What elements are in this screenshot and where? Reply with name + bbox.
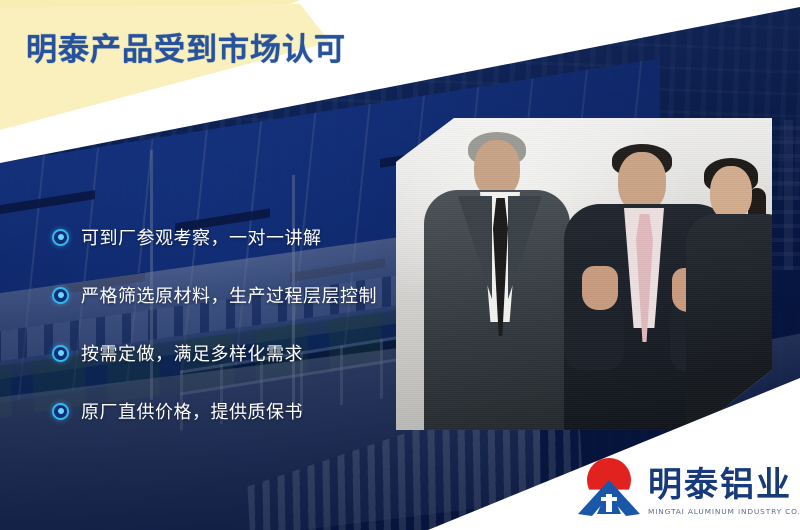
company-name-en: MINGTAI ALUMINUM INDUSTRY CO., LTD <box>648 507 800 516</box>
p3-head <box>710 166 752 220</box>
target-circle-icon <box>52 345 69 362</box>
target-circle-icon <box>52 229 69 246</box>
list-item: 严格筛选原材料，生产过程层层控制 <box>52 266 412 324</box>
feature-text: 按需定做，满足多样化需求 <box>81 340 303 366</box>
feature-text: 原厂直供价格，提供质保书 <box>81 398 303 424</box>
white-cross-detail <box>606 494 612 512</box>
company-logo: 明泰铝业 MINGTAI ALUMINUM INDUSTRY CO., LTD <box>578 458 800 516</box>
mingtai-sun-mountain-icon <box>578 458 640 516</box>
feature-text: 严格筛选原材料，生产过程层层控制 <box>81 282 377 308</box>
list-item: 原厂直供价格，提供质保书 <box>52 382 412 440</box>
list-item: 可到厂参观考察，一对一讲解 <box>52 208 412 266</box>
feature-list: 可到厂参观考察，一对一讲解 严格筛选原材料，生产过程层层控制 按需定做，满足多样… <box>52 208 412 440</box>
page-title: 明泰产品受到市场认可 <box>26 24 346 69</box>
list-item: 按需定做，满足多样化需求 <box>52 324 412 382</box>
p2-head <box>618 152 666 212</box>
target-circle-icon <box>52 287 69 304</box>
target-circle-icon <box>52 403 69 420</box>
business-team-photo <box>396 118 772 430</box>
logo-wordmark: 明泰铝业 MINGTAI ALUMINUM INDUSTRY CO., LTD <box>648 468 800 516</box>
promotional-banner: 明泰产品受到市场认可 可到厂参观考察，一对一讲解 严格筛选原材料，生产过程层层控… <box>0 0 800 530</box>
p2-hand-left <box>582 266 618 310</box>
company-name-cn: 明泰铝业 <box>648 468 800 502</box>
feature-text: 可到厂参观考察，一对一讲解 <box>81 224 322 250</box>
